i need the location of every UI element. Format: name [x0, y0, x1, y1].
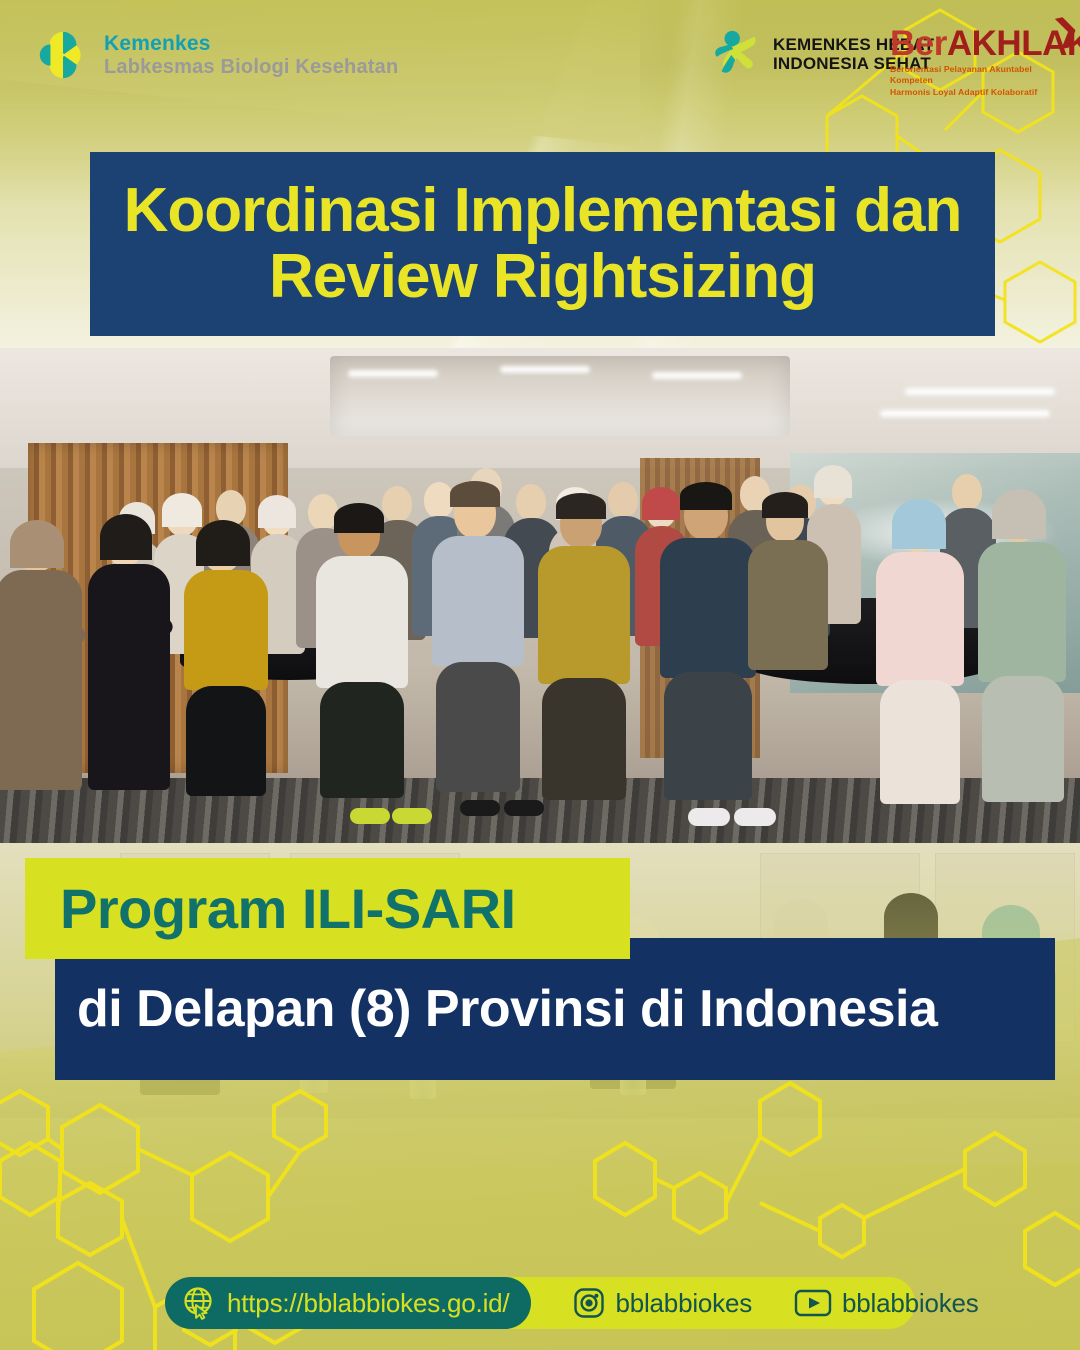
youtube-link[interactable]: bblabbiokes — [794, 1288, 979, 1319]
berakhlak-ber-text: Ber — [890, 24, 947, 63]
berakhlak-sub-line1: Berorientasi Pelayanan Akuntabel Kompete… — [890, 64, 1065, 87]
kemenkes-logo-line1: Kemenkes — [104, 32, 398, 56]
program-label-text: Program ILI-SARI — [60, 876, 516, 941]
poster-canvas: Kemenkes Labkesmas Biologi Kesehatan KEM… — [0, 0, 1080, 1350]
youtube-handle-text: bblabbiokes — [842, 1288, 979, 1319]
kemenkes-flower-logo-icon — [34, 26, 92, 84]
berakhlak-caret-icon: ❯ — [1052, 14, 1080, 48]
kemenkes-logo-line2: Labkesmas Biologi Kesehatan — [104, 56, 398, 78]
website-url-text: https://bblabbiokes.go.id/ — [227, 1288, 509, 1319]
main-title-box: Koordinasi Implementasi dan Review Right… — [90, 152, 995, 336]
ceiling-light — [500, 366, 590, 373]
berakhlak-subtitle: Berorientasi Pelayanan Akuntabel Kompete… — [890, 64, 1065, 98]
kemenkes-hebat-person-icon — [712, 28, 764, 80]
ceiling-light — [652, 372, 742, 379]
instagram-link[interactable]: bblabbiokes — [573, 1287, 752, 1319]
program-label-box: Program ILI-SARI — [25, 858, 630, 959]
title-line-2: Review Rightsizing — [269, 244, 816, 310]
globe-cursor-icon — [181, 1285, 217, 1321]
berakhlak-sub-line2: Harmonis Loyal Adaptif Kolaboratif — [890, 87, 1065, 98]
berakhlak-logo: BerAKHLAK ❯ Berorientasi Pelayanan Akunt… — [890, 26, 1065, 98]
ceiling-light — [348, 370, 438, 377]
berakhlak-wordmark: BerAKHLAK ❯ — [890, 26, 1065, 61]
main-group-photo — [0, 348, 1080, 844]
youtube-icon — [794, 1289, 832, 1317]
instagram-handle-text: bblabbiokes — [615, 1288, 752, 1319]
scope-label-text: di Delapan (8) Provinsi di Indonesia — [77, 979, 937, 1039]
title-line-1: Koordinasi Implementasi dan — [124, 178, 962, 244]
instagram-icon — [573, 1287, 605, 1319]
ceiling-light — [905, 388, 1055, 395]
kemenkes-labkesmas-logo: Kemenkes Labkesmas Biologi Kesehatan — [34, 26, 398, 84]
website-pill[interactable]: https://bblabbiokes.go.id/ — [165, 1277, 531, 1329]
ceiling-light — [880, 410, 1050, 417]
scope-label-box: di Delapan (8) Provinsi di Indonesia — [55, 938, 1055, 1080]
footer-contact-bar: https://bblabbiokes.go.id/ bblabbiokes b… — [165, 1277, 915, 1329]
